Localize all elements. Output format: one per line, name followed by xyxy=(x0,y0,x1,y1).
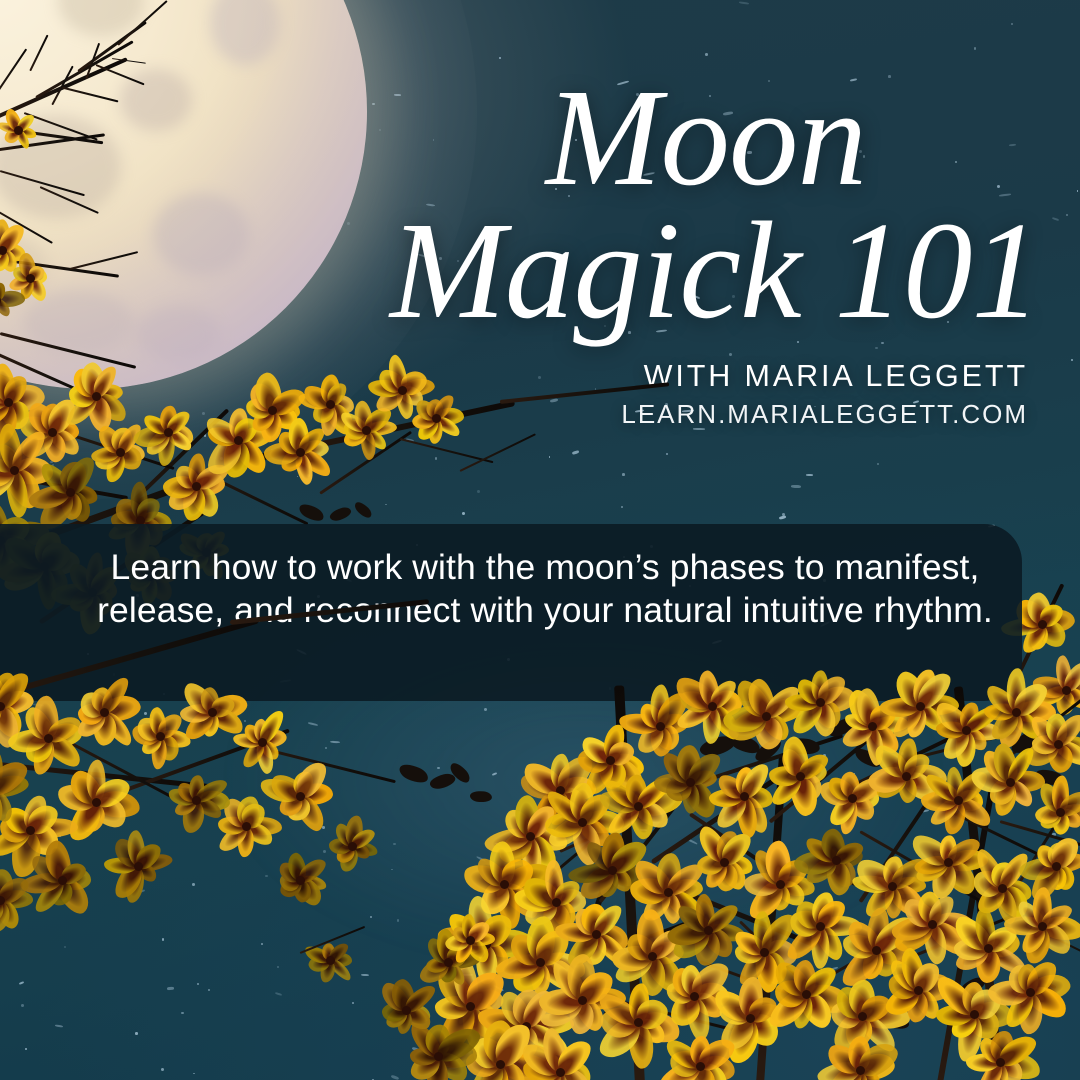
blossom-center xyxy=(296,876,305,885)
blossom-center xyxy=(26,826,35,835)
blossom-center xyxy=(0,896,5,905)
blossom-center xyxy=(634,1018,643,1027)
leaf xyxy=(397,761,431,787)
blossom-center xyxy=(606,756,615,765)
blossom-center xyxy=(526,832,535,841)
blossom-center xyxy=(954,796,963,805)
blossom-center xyxy=(704,926,713,935)
blossom-center xyxy=(858,1012,867,1021)
blossom-center xyxy=(1026,988,1035,997)
blossom-center xyxy=(762,712,771,721)
blossom-center xyxy=(928,920,937,929)
blossom-center xyxy=(0,702,5,711)
blossom-center xyxy=(444,958,453,967)
blossom-branch-layer-front xyxy=(0,0,1080,1080)
blossom-center xyxy=(902,772,911,781)
blossom-center xyxy=(802,990,811,999)
blossom-center xyxy=(868,722,877,731)
blossom-center xyxy=(402,1006,411,1015)
blossom-center xyxy=(984,944,993,953)
leaf xyxy=(469,790,492,803)
blossom-center xyxy=(192,796,201,805)
branch xyxy=(0,617,259,705)
blossom-center xyxy=(856,1066,865,1075)
blossom-center xyxy=(916,702,925,711)
blossom-center xyxy=(434,1052,443,1061)
blossom-center xyxy=(1052,862,1061,871)
blossom-center xyxy=(296,792,305,801)
blossom-center xyxy=(592,930,601,939)
blossom-center xyxy=(888,882,897,891)
blossom-center xyxy=(816,698,825,707)
blossom-center xyxy=(970,1010,979,1019)
branch xyxy=(230,599,429,624)
blossom-center xyxy=(326,956,335,965)
blossom-center xyxy=(872,946,881,955)
blossom-center xyxy=(156,732,165,741)
blossom-center xyxy=(578,996,587,1005)
blossom-center xyxy=(1056,808,1065,817)
blossom-center xyxy=(1012,708,1021,717)
blossom-center xyxy=(664,888,673,897)
blossom-center xyxy=(466,1002,475,1011)
blossom-center xyxy=(816,922,825,931)
blossom-center xyxy=(944,858,953,867)
blossom-center xyxy=(608,866,617,875)
blossom-center xyxy=(648,952,657,961)
blossom-center xyxy=(552,898,561,907)
blossom-center xyxy=(92,798,101,807)
blossom-center xyxy=(536,958,545,967)
blossom-center xyxy=(656,722,665,731)
blossom-center xyxy=(720,858,729,867)
blossom-center xyxy=(242,822,251,831)
blossom-center xyxy=(996,1058,1005,1067)
blossom-center xyxy=(796,772,805,781)
blossom-center xyxy=(556,1068,565,1077)
blossom-center xyxy=(1038,922,1047,931)
blossom-center xyxy=(690,992,699,1001)
blossom-center xyxy=(208,708,217,717)
blossom-center xyxy=(686,778,695,787)
blossom-center xyxy=(44,734,53,743)
leaf xyxy=(428,772,456,791)
blossom-center xyxy=(496,1060,505,1069)
blossom-center xyxy=(740,792,749,801)
blossom-center xyxy=(58,876,67,885)
blossom-center xyxy=(348,842,357,851)
blossom-center xyxy=(998,884,1007,893)
blossom-center xyxy=(962,726,971,735)
blossom-center xyxy=(848,794,857,803)
blossom-center xyxy=(696,1062,705,1071)
blossom-center xyxy=(708,702,717,711)
blossom-center xyxy=(258,738,267,747)
blossom-center xyxy=(634,802,643,811)
blossom-center xyxy=(832,856,841,865)
blossom-center xyxy=(914,986,923,995)
blossom-center xyxy=(746,1014,755,1023)
blossom-center xyxy=(1006,778,1015,787)
blossom-center xyxy=(578,818,587,827)
blossom-center xyxy=(760,948,769,957)
blossom-center xyxy=(776,880,785,889)
blossom-center xyxy=(1054,740,1063,749)
blossom-center xyxy=(100,708,109,717)
blossom-center xyxy=(500,880,509,889)
blossom-center xyxy=(134,862,143,871)
poster-canvas: Moon Magick 101 WITH MARIA LEGGETT LEARN… xyxy=(0,0,1080,1080)
blossom-center xyxy=(466,936,475,945)
